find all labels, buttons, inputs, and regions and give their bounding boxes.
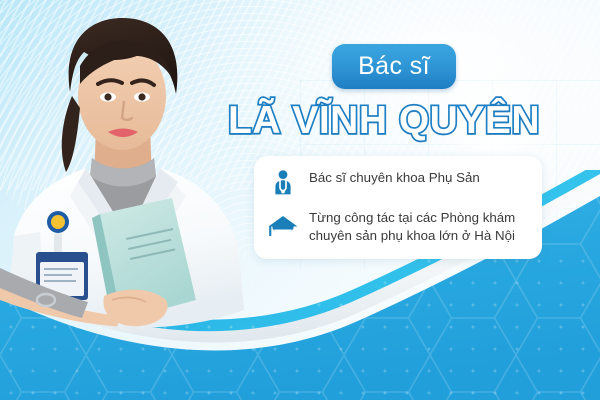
info-row-specialty-text: Bác sĩ chuyên khoa Phụ Sản [309,168,480,187]
doctor-title-badge: Bác sĩ [332,44,456,89]
info-card: Bác sĩ chuyên khoa Phụ Sản Từng công tác… [254,156,542,259]
doctor-portrait-photo [0,0,268,354]
info-row-experience-text: Từng công tác tại các Phòng khám chuyên … [309,208,528,246]
doctor-name-text: LÃ VĨNH QUYÊN [228,101,540,140]
doctor-stethoscope-icon [268,168,298,198]
doctor-profile-banner: Bác sĩ LÃ VĨNH QUYÊN Bác sĩ chuyên khoa … [0,0,600,400]
doctor-title-badge-label: Bác sĩ [358,54,430,79]
doctor-name: LÃ VĨNH QUYÊN [228,96,588,144]
info-row-specialty: Bác sĩ chuyên khoa Phụ Sản [268,168,528,198]
graduation-cap-icon [268,208,298,238]
info-row-experience: Từng công tác tại các Phòng khám chuyên … [268,208,528,246]
